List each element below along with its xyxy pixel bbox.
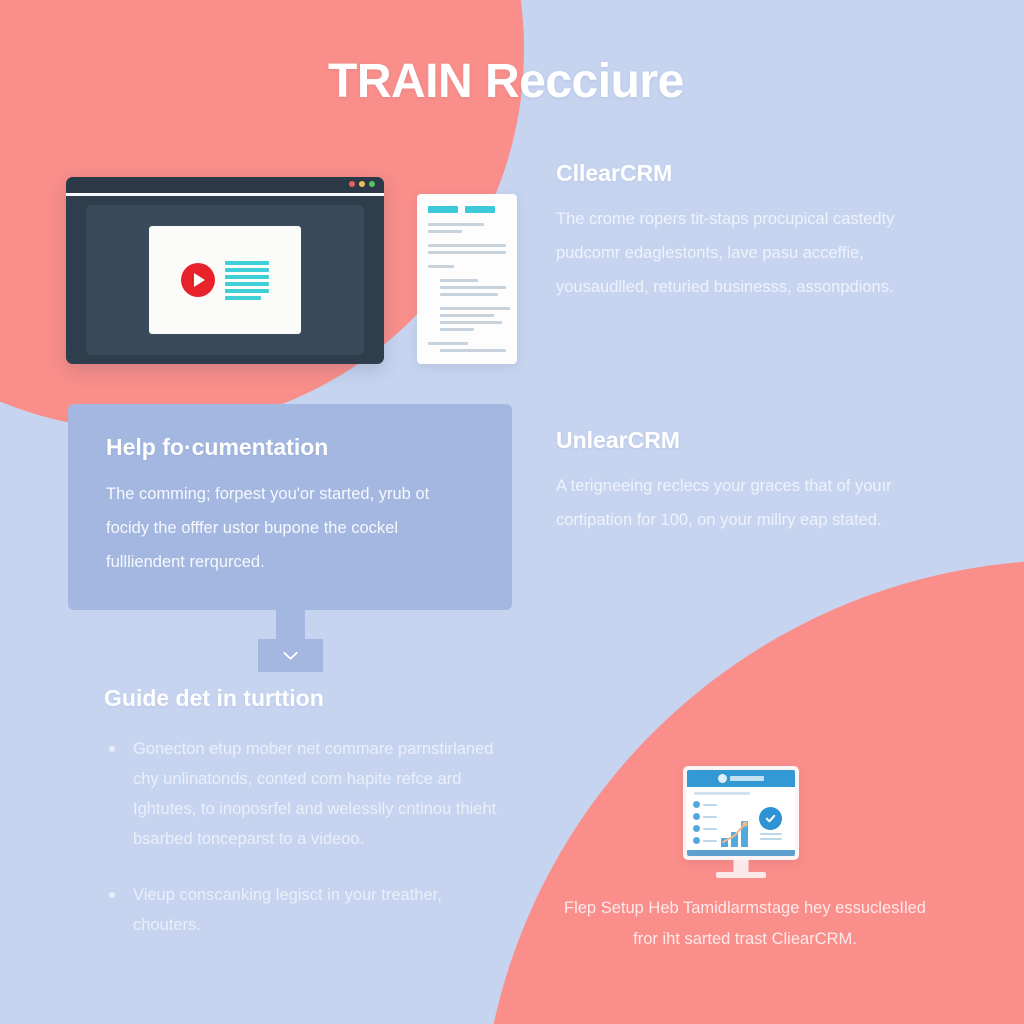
chevron-down-icon bbox=[283, 652, 298, 660]
play-icon bbox=[181, 263, 215, 297]
maximize-dot-icon bbox=[369, 181, 375, 187]
page-title: TRAIN Recciure bbox=[328, 54, 684, 109]
browser-titlebar bbox=[66, 177, 384, 196]
document-tab bbox=[465, 206, 495, 213]
chevron-down-connector bbox=[258, 639, 323, 672]
connector-stem bbox=[276, 608, 305, 642]
checklist-row bbox=[693, 813, 717, 820]
brand-wordmark bbox=[730, 776, 764, 781]
section-unlearcrm-title: UnlearCRM bbox=[556, 427, 934, 454]
check-badge-icon bbox=[693, 801, 700, 808]
browser-viewport bbox=[66, 196, 384, 364]
check-badge-icon bbox=[693, 825, 700, 832]
monitor-checklist bbox=[693, 799, 717, 850]
section-unlearcrm-body: A terigneeing reclecs your graces that o… bbox=[556, 469, 934, 537]
document-card bbox=[417, 194, 517, 364]
document-tab bbox=[428, 206, 458, 213]
section-clearcrm-title: CllearCRM bbox=[556, 160, 934, 187]
brand-logo-icon bbox=[718, 774, 727, 783]
check-circle-icon bbox=[759, 807, 782, 830]
list-item: Gonecton etup mober net commare parnstir… bbox=[104, 734, 504, 854]
document-tabs bbox=[428, 206, 506, 213]
help-card-title: Help fo·cumentation bbox=[106, 434, 474, 461]
guide-bullet-list: Gonecton etup mober net commare parnstir… bbox=[104, 734, 504, 940]
monitor-header-bar bbox=[687, 770, 795, 787]
checklist-row bbox=[693, 837, 717, 844]
check-badge-icon bbox=[693, 813, 700, 820]
browser-video-mockup bbox=[66, 177, 384, 364]
monitor-body bbox=[687, 798, 795, 850]
close-dot-icon bbox=[349, 181, 355, 187]
section-unlearcrm: UnlearCRM A terigneeing reclecs your gra… bbox=[556, 427, 934, 537]
browser-content-area bbox=[86, 205, 364, 355]
help-documentation-card: Help fo·cumentation The comming; forpest… bbox=[68, 404, 512, 610]
monitor-status-area bbox=[759, 799, 782, 850]
section-clearcrm-body: The crome ropers tit-staps procupical ca… bbox=[556, 202, 934, 304]
monitor-subtitle-line bbox=[694, 792, 750, 795]
dashboard-monitor-icon bbox=[683, 766, 799, 860]
list-item: Vieup conscanking legisct in your treath… bbox=[104, 880, 504, 940]
monitor-footer-bar bbox=[687, 850, 795, 856]
trend-line-icon bbox=[721, 819, 755, 847]
footer-caption: Flep Setup Heb Tamidlarmstage hey essucl… bbox=[555, 893, 935, 955]
infographic-canvas: TRAIN Recciure bbox=[0, 0, 1024, 1024]
monitor-base bbox=[716, 872, 766, 878]
minimize-dot-icon bbox=[359, 181, 365, 187]
monitor-screen bbox=[687, 770, 795, 856]
video-thumbnail-card bbox=[149, 226, 301, 334]
help-card-body: The comming; forpest you'or started, yru… bbox=[106, 477, 474, 579]
bar-chart-icon bbox=[721, 799, 755, 850]
section-guide-title: Guide det in turttion bbox=[104, 685, 504, 712]
checklist-row bbox=[693, 825, 717, 832]
window-controls bbox=[349, 181, 375, 187]
video-text-lines bbox=[225, 261, 269, 300]
section-clearcrm: CllearCRM The crome ropers tit-staps pro… bbox=[556, 160, 934, 304]
check-badge-icon bbox=[693, 837, 700, 844]
checklist-row bbox=[693, 801, 717, 808]
section-guide: Guide det in turttion Gonecton etup mobe… bbox=[104, 685, 504, 966]
